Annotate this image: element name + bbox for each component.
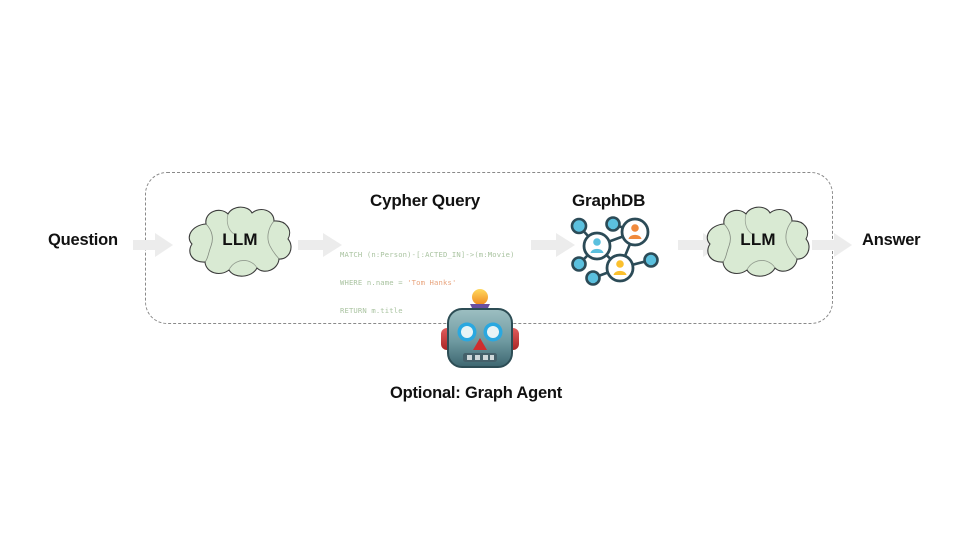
output-label-answer: Answer	[862, 231, 920, 250]
robot-icon	[437, 288, 523, 374]
cypher-code-line-1: MATCH (n:Person)-[:ACTED_IN]->(m:Movie)	[340, 250, 515, 259]
flow-arrow-1	[133, 232, 173, 258]
graph-network-icon	[563, 212, 667, 290]
section-title-graphdb: GraphDB	[572, 191, 645, 211]
cypher-code-line-2-prefix: WHERE n.name =	[340, 278, 407, 287]
flow-arrow-2	[298, 232, 342, 258]
node-llm-right-label: LLM	[702, 230, 814, 250]
pipeline-diagram: Question LLM Cypher Query MATCH (n:Perso…	[0, 0, 960, 540]
section-title-cypher-query: Cypher Query	[370, 191, 480, 211]
caption-optional-graph-agent: Optional: Graph Agent	[390, 384, 562, 403]
input-label-question: Question	[48, 231, 118, 250]
cypher-code-string-literal: 'Tom Hanks'	[407, 278, 456, 287]
node-llm-left-label: LLM	[184, 230, 296, 250]
cypher-code-line-2: WHERE n.name = 'Tom Hanks'	[340, 278, 515, 287]
node-llm-right: LLM	[702, 204, 814, 280]
flow-arrow-5	[812, 232, 852, 258]
node-llm-left: LLM	[184, 204, 296, 280]
